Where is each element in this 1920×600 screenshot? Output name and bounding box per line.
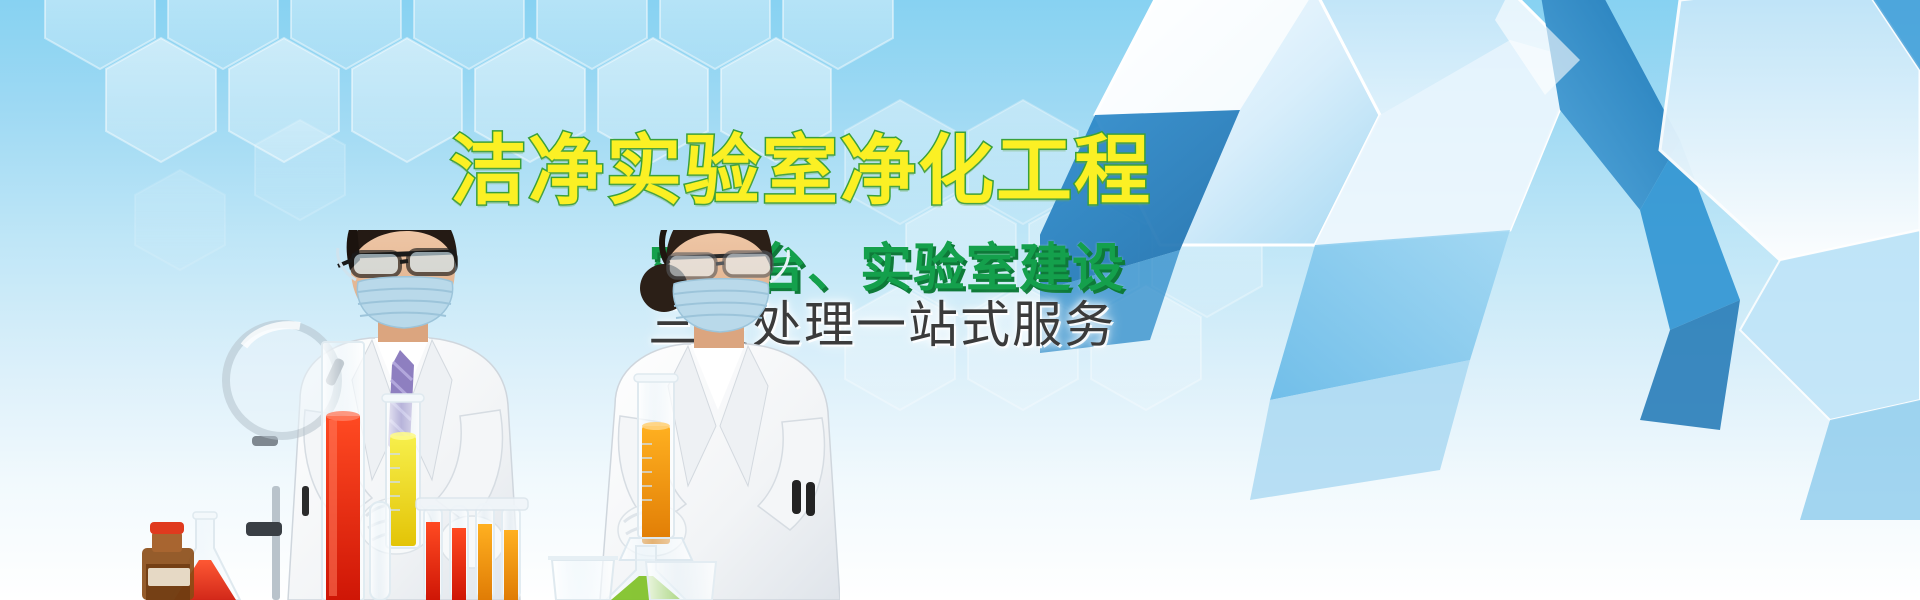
face-mask: [338, 248, 453, 328]
beaker: [548, 558, 618, 600]
banner-text-block: 洁净实验室净化工程 实验台、实验室建设 三废处理一站式服务: [0, 0, 1920, 600]
gloved-hand: [618, 504, 686, 556]
reagent-bottle: [142, 522, 194, 600]
clear-test-tube: [370, 502, 390, 600]
female-scientist: [600, 230, 840, 600]
male-scientist: [288, 230, 520, 600]
gloved-hand: [440, 516, 504, 568]
face-mask: [673, 250, 788, 332]
banner-subheadline: 实验台、实验室建设: [648, 243, 1125, 295]
banner-tagline: 三废处理一站式服务: [648, 300, 1116, 350]
safety-glasses: [668, 252, 772, 278]
red-liquid-cylinder: [322, 342, 364, 600]
pen: [806, 482, 815, 516]
magnifier-stand: [226, 324, 345, 600]
promo-banner: 洁净实验室净化工程 实验台、实验室建设 三废处理一站式服务: [0, 0, 1920, 600]
orange-liquid-cylinder: [620, 374, 692, 560]
crystal-decoration: [1040, 0, 1920, 520]
banner-headline: 洁净实验室净化工程: [450, 134, 1152, 210]
green-flask: [606, 546, 686, 600]
yellow-liquid-cylinder: [382, 394, 424, 548]
lab-scientists-photo: [0, 230, 840, 600]
gloved-hand: [360, 498, 432, 554]
hair-bun: [640, 264, 688, 312]
test-tube-rack: [416, 498, 528, 600]
beaker: [646, 562, 716, 600]
pen: [792, 480, 801, 514]
erlenmeyer-flask: [170, 512, 240, 600]
safety-glasses: [338, 250, 456, 276]
hexagon-pattern: [0, 0, 1920, 600]
